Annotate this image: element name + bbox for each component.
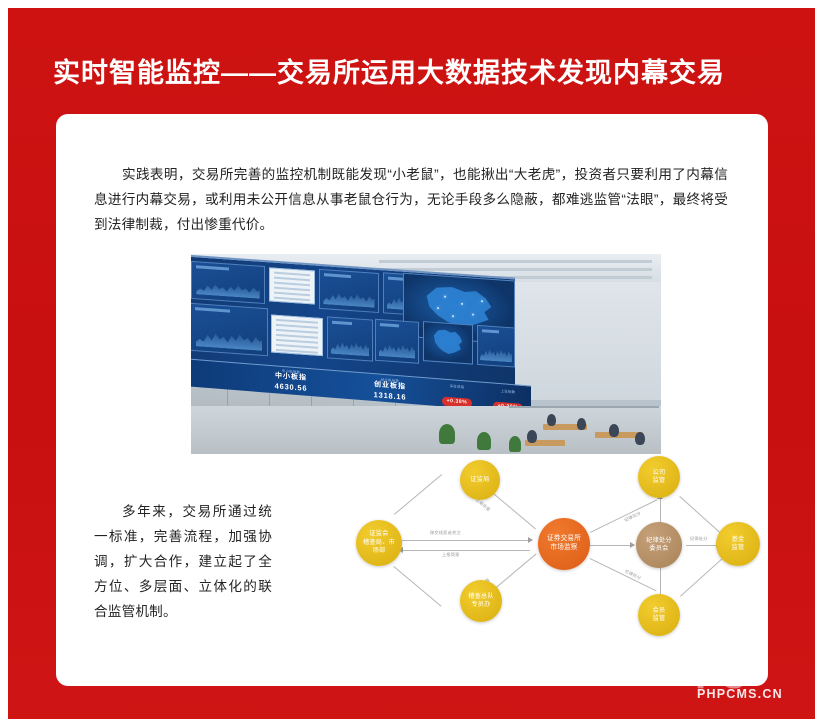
node-zjj-label: 证监局 [470, 476, 489, 484]
edge-center-zjh-bottom [402, 550, 530, 551]
screen-chart [480, 343, 512, 362]
phpcms-watermark: PC PHPCMS.CN [689, 651, 799, 713]
staff-person [527, 430, 537, 443]
edge-zjj-center [489, 490, 536, 529]
screen-chart [379, 338, 416, 358]
node-hyjg-label: 会员 监管 [653, 607, 666, 624]
edge-label-left-bottom: 上报简报 [442, 552, 460, 558]
node-jjjg-label: 基金 监管 [732, 536, 745, 553]
node-exchange-center[interactable]: 证券交易所 市场监察 [538, 518, 590, 570]
wall-screen [477, 325, 515, 368]
screen-chart [196, 326, 263, 351]
node-center-label: 证券交易所 市场监察 [547, 535, 581, 553]
node-company-supervision[interactable]: 公司 监管 [638, 456, 680, 498]
map-dot [481, 300, 483, 302]
content-card: 实践表明，交易所完善的监控机制既能发现“小老鼠”，也能揪出“大老虎”，投资者只要… [56, 114, 768, 686]
node-zjh[interactable]: 证监会 稽查局、市 场部 [356, 520, 402, 566]
paragraph-left: 多年来，交易所通过统一标准，完善流程，加强协调，扩大合作，建立起了全方位、多层面… [94, 499, 272, 624]
node-fund-supervision[interactable]: 基金 监管 [716, 522, 760, 566]
map-dot [461, 303, 463, 305]
staff-person [609, 424, 619, 437]
potted-plant [509, 436, 521, 452]
map-dot [472, 313, 474, 315]
page-title: 实时智能监控——交易所运用大数据技术发现内幕交易 [53, 54, 783, 92]
edge-center-jlcf [590, 545, 634, 546]
ceiling-strip [379, 260, 652, 263]
node-jczd[interactable]: 稽查总队 专员办 [460, 580, 502, 622]
edge-zjh-center-top [402, 540, 530, 541]
monitoring-center-photo: 中小板指数 中小板指 4630.56 +19.72 +0.43% 创业板指数 创… [191, 254, 661, 454]
edge-label-jlcf-right: 纪律处分 [690, 536, 708, 542]
node-zjj[interactable]: 证监局 [460, 460, 500, 500]
potted-plant [477, 432, 491, 450]
edge-label-gsjg-up: 纪律处分 [624, 510, 642, 523]
photo-floor [191, 406, 661, 454]
staff-person [577, 418, 586, 430]
poster-background: 实时智能监控——交易所运用大数据技术发现内幕交易 实践表明，交易所完善的监控机制… [8, 8, 815, 719]
staff-person [635, 432, 645, 445]
wall-screen-document [269, 267, 315, 304]
node-gsjg-label: 公司 监管 [653, 469, 666, 486]
node-discipline-committee[interactable]: 纪律处分 委员会 [636, 522, 682, 568]
regulatory-network-diagram: 移交线索或关注 上报简报 立案协查 立案协查 [324, 452, 744, 647]
node-jlcf-label: 纪律处分 委员会 [646, 537, 672, 554]
node-jczd-label: 稽查总队 专员办 [468, 593, 494, 610]
china-map-shape [433, 329, 464, 356]
node-member-supervision[interactable]: 会员 监管 [638, 594, 680, 636]
wall-screen [327, 316, 373, 361]
map-dot [444, 295, 446, 297]
edge-zjh-zjj [394, 474, 442, 515]
poster-page: 实时智能监控——交易所运用大数据技术发现内幕交易 实践表明，交易所完善的监控机制… [0, 0, 823, 727]
paragraph-top: 实践表明，交易所完善的监控机制既能发现“小老鼠”，也能揪出“大老虎”，投资者只要… [94, 162, 728, 237]
node-zjh-label: 证监会 稽查局、市 场部 [363, 530, 395, 555]
arrow-right-jlcf [630, 542, 635, 548]
wall-screen-map [423, 321, 473, 364]
arrow-right-center [528, 537, 533, 543]
ticker-label: 上证指数 [485, 388, 531, 396]
staff-person [547, 414, 556, 426]
potted-plant [439, 424, 455, 444]
wall-screen [191, 261, 265, 304]
wall-screen [319, 269, 379, 313]
map-dot [437, 307, 439, 309]
screen-chart [196, 278, 259, 298]
edge-jlcf-jjjg [686, 545, 720, 546]
watermark-text: PHPCMS.CN [697, 687, 783, 701]
edge-label-left-top: 移交线索或关注 [430, 530, 461, 536]
screen-chart [323, 287, 374, 307]
wall-screen-document [271, 314, 323, 356]
screen-chart [331, 336, 370, 356]
glass-railing [509, 406, 659, 408]
wall-screen [375, 319, 419, 364]
edge-gsjg-jjjg [679, 496, 723, 536]
edge-zjh-jczd [393, 566, 441, 607]
ticker-label: 深证成指 [431, 383, 483, 391]
wall-screen [191, 303, 268, 356]
edge-hyjg-jjjg [680, 557, 724, 597]
